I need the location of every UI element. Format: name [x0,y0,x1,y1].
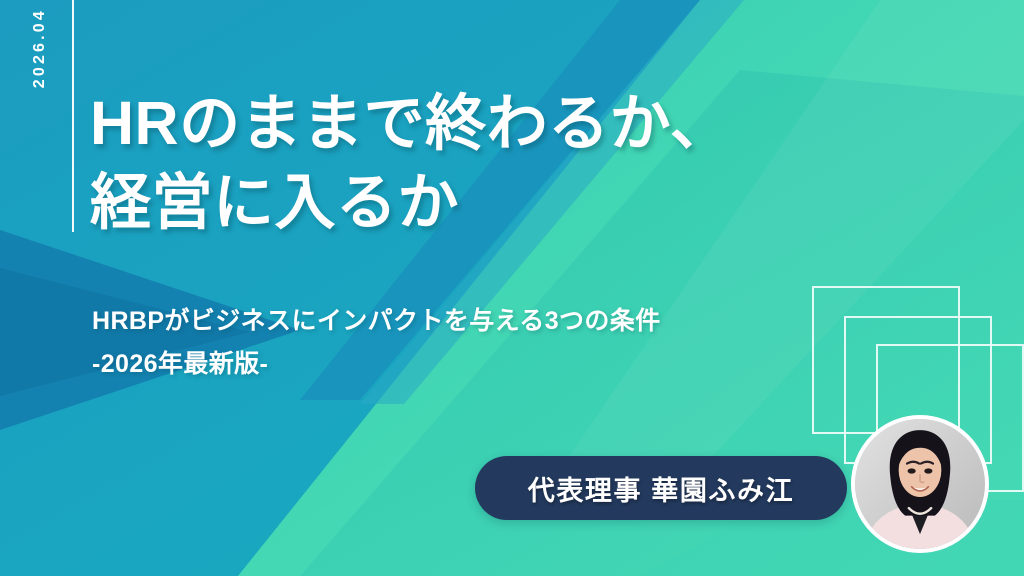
date-label: 2026.04 [32,8,48,88]
avatar-portrait-icon [855,419,985,549]
speaker-name-badge: 代表理事 華園ふみ江 [475,456,847,520]
slide-title: HRのままで終わるか、 経営に入るか [90,84,990,243]
slide-title-line-1: HRのままで終わるか、 [90,84,990,163]
slide-subtitle-line-2: -2026年最新版- [92,343,992,386]
speaker-name-label: 代表理事 華園ふみ江 [528,469,795,508]
slide-title-line-2: 経営に入るか [90,163,990,242]
speaker-avatar [851,415,989,553]
slide-subtitle-line-1: HRBPがビジネスにインパクトを与える3つの条件 [92,300,992,343]
slide-subtitle: HRBPがビジネスにインパクトを与える3つの条件 -2026年最新版- [92,300,992,386]
presentation-slide: 2026.04 HRのままで終わるか、 経営に入るか HRBPがビジネスにインパ… [0,0,1024,576]
date-rail: 2026.04 [26,8,54,248]
vertical-divider-line [72,0,74,232]
